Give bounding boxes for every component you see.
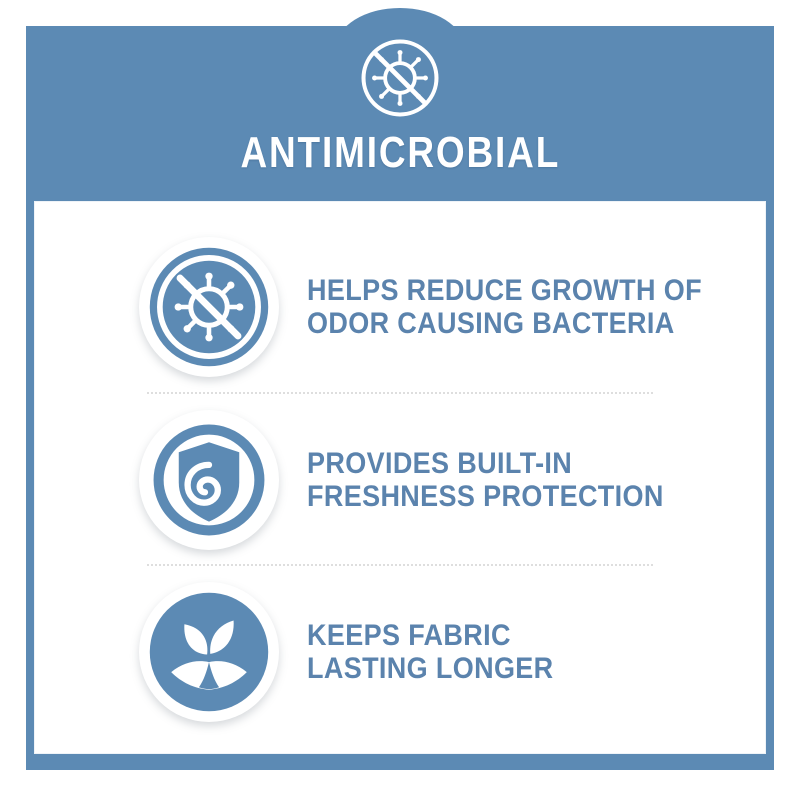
feature-row: HELPS REDUCE GROWTH OF ODOR CAUSING BACT… (35, 224, 765, 390)
features-panel: HELPS REDUCE GROWTH OF ODOR CAUSING BACT… (34, 201, 766, 754)
feature-line-2: LASTING LONGER (307, 652, 554, 685)
antimicrobial-infographic: ANTIMICROBIAL (0, 0, 800, 800)
leaf-fabric-badge-icon (139, 582, 279, 722)
no-virus-icon (352, 30, 448, 126)
feature-line-1: PROVIDES BUILT-IN (307, 447, 664, 480)
feature-line-2: ODOR CAUSING BACTERIA (307, 307, 702, 340)
header: ANTIMICROBIAL (26, 26, 774, 201)
divider (147, 564, 653, 567)
feature-row: KEEPS FABRIC LASTING LONGER (35, 569, 765, 735)
feature-text: PROVIDES BUILT-IN FRESHNESS PROTECTION (307, 447, 664, 513)
feature-line-1: KEEPS FABRIC (307, 619, 554, 652)
infographic-card: ANTIMICROBIAL (26, 26, 774, 770)
feature-text: KEEPS FABRIC LASTING LONGER (307, 619, 554, 685)
feature-text: HELPS REDUCE GROWTH OF ODOR CAUSING BACT… (307, 274, 702, 340)
divider (147, 392, 653, 395)
shield-swirl-badge-icon (139, 410, 279, 550)
feature-row: PROVIDES BUILT-IN FRESHNESS PROTECTION (35, 397, 765, 563)
feature-line-2: FRESHNESS PROTECTION (307, 480, 664, 513)
feature-line-1: HELPS REDUCE GROWTH OF (307, 274, 702, 307)
no-virus-badge-icon (139, 237, 279, 377)
page-title: ANTIMICROBIAL (240, 130, 560, 176)
